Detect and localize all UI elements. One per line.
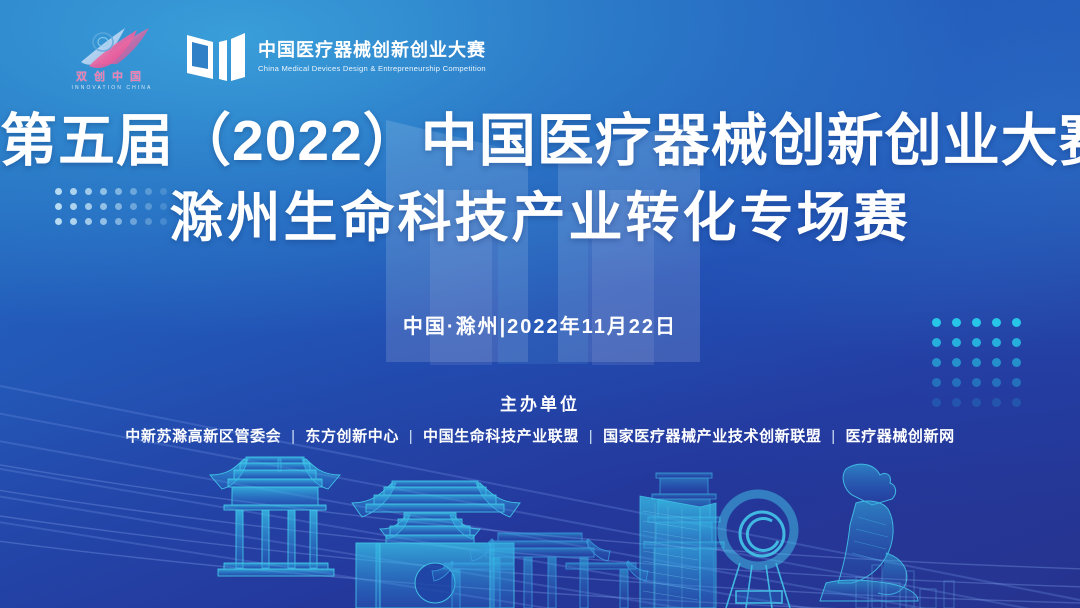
ring-sculpture bbox=[722, 494, 794, 608]
header-logos: 双创中国 INNOVATION CHINA 中国医疗器械创新创业大赛 China… bbox=[60, 22, 486, 91]
logo-shuangchuang-cn: 双创中国 bbox=[76, 71, 148, 83]
bird-emblem-icon bbox=[69, 22, 155, 70]
open-book-mark-icon bbox=[186, 29, 246, 85]
title-line-2: 滁州生命科技产业转化专场赛 bbox=[0, 190, 1080, 247]
logo-competition: 中国医疗器械创新创业大赛 China Medical Devices Desig… bbox=[186, 29, 486, 85]
logo-shuangchuang-china: 双创中国 INNOVATION CHINA bbox=[60, 22, 164, 91]
merlion-statue bbox=[820, 464, 918, 601]
logo-shuangchuang-en: INNOVATION CHINA bbox=[72, 85, 153, 91]
logo-competition-cn: 中国医疗器械创新创业大赛 bbox=[258, 40, 486, 61]
title-line-1: 第五届（2022）中国医疗器械创新创业大赛 bbox=[0, 112, 1080, 172]
chinese-pavilion-gate bbox=[210, 457, 340, 576]
logo-competition-en: China Medical Devices Design & Entrepren… bbox=[258, 64, 486, 73]
city-skyline-illustration bbox=[0, 433, 1080, 608]
poster-canvas: 双创中国 INNOVATION CHINA 中国医疗器械创新创业大赛 China… bbox=[0, 0, 1080, 608]
modern-office-tower bbox=[640, 496, 716, 608]
